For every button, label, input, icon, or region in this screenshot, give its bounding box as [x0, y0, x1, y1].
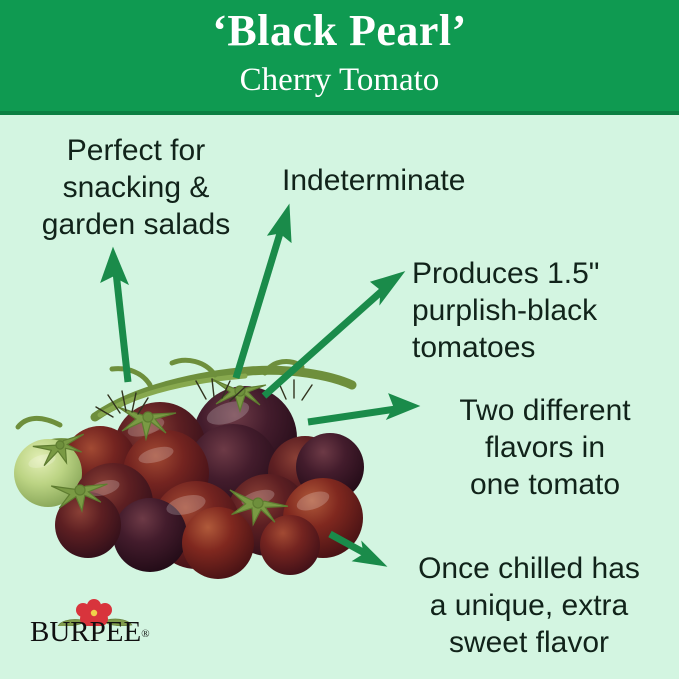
- callout-produces: Produces 1.5" purplish-black tomatoes: [412, 256, 674, 367]
- burpee-wordmark: BURPEE®: [30, 618, 170, 647]
- page-subtitle: Cherry Tomato: [0, 63, 679, 98]
- burpee-logo: BURPEE®: [30, 596, 170, 652]
- tomato-cluster-image: [0, 355, 390, 580]
- tomato-fruits: [14, 386, 364, 579]
- header-banner: ‘Black Pearl’ Cherry Tomato: [0, 0, 679, 115]
- seed-packet-poster: ‘Black Pearl’ Cherry Tomato: [0, 0, 679, 679]
- page-title: ‘Black Pearl’: [0, 8, 679, 54]
- callout-snacking: Perfect for snacking & garden salads: [18, 133, 254, 244]
- callout-indeterminate: Indeterminate: [282, 163, 512, 200]
- burpee-trademark: ®: [141, 628, 149, 640]
- burpee-wordmark-text: BURPEE: [30, 616, 141, 648]
- callout-flavors: Two different flavors in one tomato: [420, 393, 670, 504]
- callout-chilled: Once chilled has a unique, extra sweet f…: [386, 551, 672, 662]
